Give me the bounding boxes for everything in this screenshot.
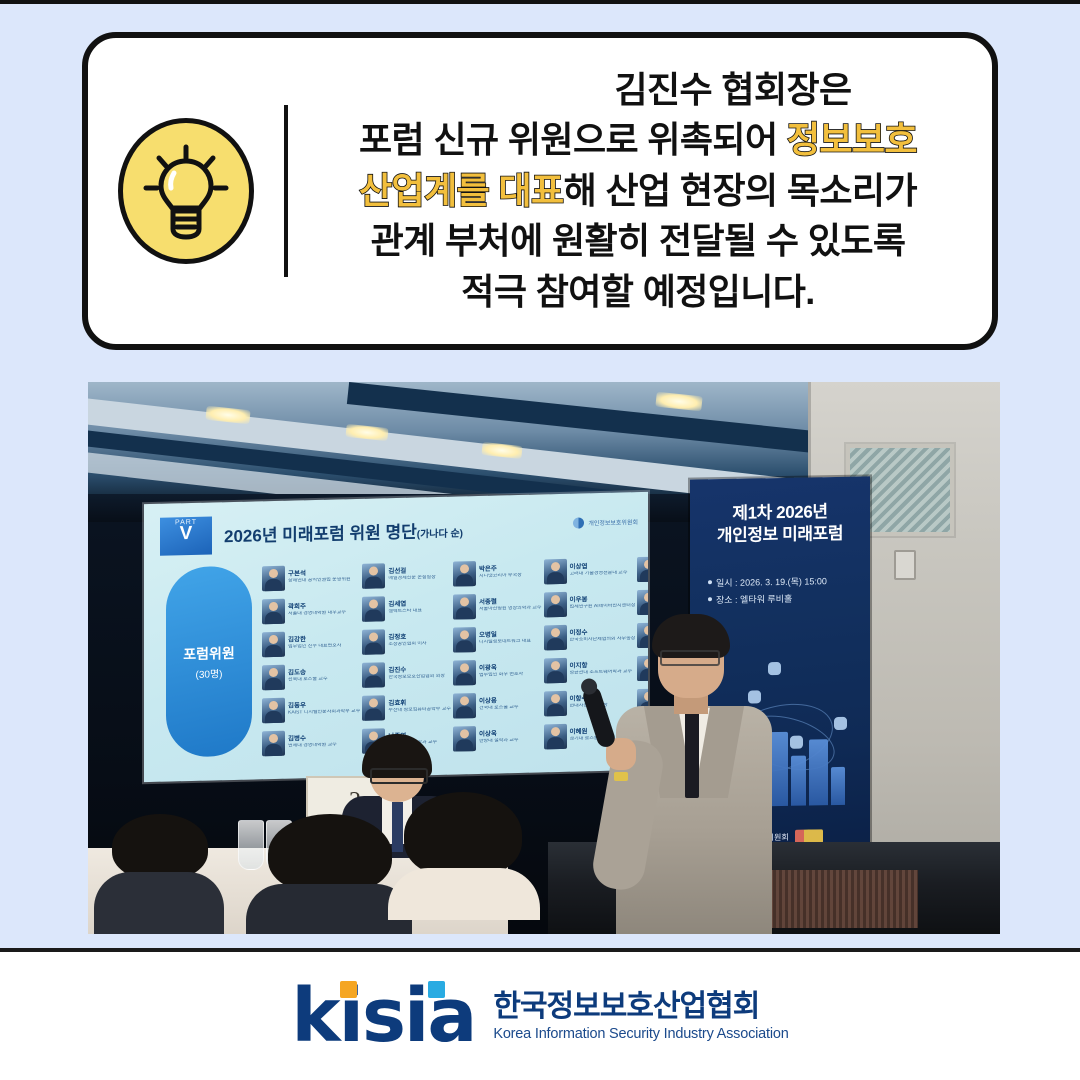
- member-portrait: [262, 599, 285, 625]
- slide-member-item: 김강한법무법인 진주 대표변호사: [262, 627, 360, 660]
- member-name-block: 김동우KAIST 디지털인문사회과학부 교수: [288, 702, 360, 716]
- banner-meta: 일시 : 2026. 3. 19.(목) 15:00 장소 : 엘타워 루비홀: [708, 573, 827, 609]
- ceiling-light: [655, 392, 702, 412]
- member-affiliation: 법무법인 화우 변호사: [479, 672, 523, 678]
- slide-member-item: 김효휘부산대 정보컴퓨터공학부 교수: [362, 691, 451, 724]
- member-portrait: [453, 594, 476, 620]
- quote-line-3: 산업계를 대표해 산업 현장의 목소리가: [310, 166, 966, 216]
- slide-member-item: 김진수한국정보보호산업협회 회장: [362, 658, 451, 691]
- poster-canvas: 김진수 협회장은 포럼 신규 위원으로 위촉되어 정보보호 산업계를 대표해 산…: [0, 0, 1080, 1080]
- member-portrait: [544, 658, 567, 684]
- member-affiliation: 전북대 로스쿨 교수: [288, 677, 328, 683]
- slide-member-item: 김동우KAIST 디지털인문사회과학부 교수: [262, 693, 360, 726]
- slide-member-item: 김세엽셀렉트스타 대표: [362, 592, 451, 625]
- slide-member-item: 곽희주서울대 경영대학원 대우교수: [262, 594, 360, 627]
- slide-member-item: 전은숙LG CNS 보안사업담당: [637, 585, 648, 618]
- slide-member-item: 이광욱법무법인 화우 변호사: [453, 655, 542, 688]
- member-portrait: [544, 691, 567, 717]
- member-affiliation: KAIST 디지털인문사회과학부 교수: [288, 709, 360, 716]
- member-name-block: 이우봉법제연구원 AI데이터만지센터장: [570, 597, 636, 611]
- member-affiliation: 건국대 로스쿨 교수: [479, 705, 519, 711]
- member-name-block: 이광욱법무법인 화우 변호사: [479, 665, 523, 678]
- slide-side-box: 포럼위원 (30명): [166, 566, 252, 758]
- banner-title: 제1차 2026년 개인정보 미래포럼: [690, 500, 870, 547]
- quote-line-5: 적극 참여할 예정입니다.: [310, 267, 966, 317]
- slide-member-item: 김정호소상공인협회 이사: [362, 625, 451, 658]
- member-affiliation: 지디넷코리아 부국장: [479, 573, 522, 579]
- slide-member-item: 이희정고려대 로스쿨 교수: [637, 552, 648, 585]
- member-affiliation: 한국정보보호산업협회 회장: [388, 674, 445, 681]
- org-name-block: 한국정보보호산업협회 Korea Information Security In…: [493, 990, 788, 1043]
- member-affiliation: 서울아산병원 영상의학과 교수: [479, 606, 542, 613]
- foreground-table-area: 2: [88, 734, 648, 934]
- member-affiliation: 서울대 경영대학원 대우교수: [288, 611, 346, 618]
- member-affiliation: 장애연대 공익인권법 운영위원: [288, 577, 351, 584]
- member-affiliation: 매일경제신문 논설실장: [388, 575, 435, 581]
- member-name-block: 김효휘부산대 정보컴퓨터공학부 교수: [388, 700, 451, 714]
- slide-title-main: 2026년 미래포럼 위원 명단: [224, 522, 417, 546]
- member-portrait: [362, 563, 385, 589]
- member-affiliation: 디지털정보네트워크 대표: [479, 639, 531, 646]
- speaker-tie: [685, 712, 699, 798]
- member-name-block: 이상용건국대 로스쿨 교수: [479, 698, 519, 711]
- network-node-icon: [790, 736, 803, 749]
- quote-text: 김진수 협회장은 포럼 신규 위원으로 위촉되어 정보보호 산업계를 대표해 산…: [310, 65, 992, 317]
- guest-head: [268, 814, 392, 894]
- quote-card: 김진수 협회장은 포럼 신규 위원으로 위촉되어 정보보호 산업계를 대표해 산…: [82, 32, 998, 350]
- quote-seg: 김진수 협회장은: [614, 69, 851, 110]
- slide-member-item: 김도승전북대 로스쿨 교수: [262, 660, 360, 693]
- member-portrait: [362, 695, 385, 721]
- member-affiliation: 고려대 기술경영전문대 교수: [570, 571, 628, 578]
- member-portrait: [637, 557, 648, 583]
- member-portrait: [453, 693, 476, 719]
- quote-seg-highlight: 정보보호: [787, 119, 917, 160]
- member-affiliation: 법무법인 진주 대표변호사: [288, 644, 341, 651]
- slide-gov-text: 개인정보보호위원회: [588, 517, 638, 527]
- quote-seg: 적극 참여할 예정입니다.: [461, 271, 814, 312]
- slide-member-item: 구본석장애연대 공익인권법 운영위원: [262, 561, 360, 594]
- bullet-icon: [708, 597, 712, 601]
- member-portrait: [637, 590, 648, 616]
- slide-part-badge: PART V: [160, 516, 212, 555]
- member-portrait: [544, 625, 567, 651]
- gov-emblem-icon: [573, 517, 584, 528]
- member-name-block: 김도승전북대 로스쿨 교수: [288, 670, 328, 683]
- slide-member-item: 서종렬서울아산병원 영상의학과 교수: [453, 589, 542, 622]
- slide-member-item: 김선걸매일경제신문 논설실장: [362, 559, 451, 592]
- attendee-glasses: [370, 768, 428, 784]
- quote-line-4: 관계 부처에 원활히 전달될 수 있도록: [310, 216, 966, 266]
- member-portrait: [362, 596, 385, 622]
- network-node-icon: [834, 717, 847, 730]
- kisia-dot-orange-icon: [340, 981, 357, 998]
- building: [809, 739, 828, 805]
- guest-shoulders: [388, 868, 540, 920]
- org-name-english: Korea Information Security Industry Asso…: [493, 1026, 788, 1042]
- member-portrait: [544, 592, 567, 618]
- slide-title-suffix: (가나다 순): [417, 528, 463, 540]
- kisia-wordmark-text: kisia: [291, 973, 475, 1059]
- member-name-block: 오병일디지털정보네트워크 대표: [479, 632, 531, 645]
- kisia-dot-cyan-icon: [428, 981, 445, 998]
- member-name-block: 김정호소상공인협회 이사: [388, 635, 426, 648]
- member-name-block: 박은주지디넷코리아 부국장: [479, 566, 522, 579]
- member-portrait: [262, 698, 285, 724]
- guest-back-center: [244, 814, 412, 934]
- lightbulb-icon: [118, 118, 254, 264]
- banner-meta-item: 일시 : 2026. 3. 19.(목) 15:00: [708, 573, 827, 592]
- member-portrait: [262, 566, 285, 592]
- slide-member-item: 이상엽고려대 기술경영전문대 교수: [544, 554, 636, 587]
- banner-meta-item: 장소 : 엘타워 루비홀: [708, 590, 827, 609]
- building: [791, 756, 806, 806]
- member-name-block: 구본석장애연대 공익인권법 운영위원: [288, 571, 351, 585]
- org-name-korean: 한국정보보호산업협회: [493, 990, 788, 1024]
- banner-venue: 장소 : 엘타워 루비홀: [716, 594, 792, 605]
- banner-datetime: 일시 : 2026. 3. 19.(목) 15:00: [716, 576, 827, 588]
- slide-title: 2026년 미래포럼 위원 명단(가나다 순): [224, 516, 463, 547]
- member-affiliation: 부산대 정보컴퓨터공학부 교수: [388, 707, 451, 714]
- member-name-block: 김진수한국정보보호산업협회 회장: [388, 667, 445, 680]
- member-portrait: [262, 665, 285, 691]
- quote-seg: 관계 부처에 원활히 전달될 수 있도록: [371, 220, 906, 261]
- member-name-block: 김세엽셀렉트스타 대표: [388, 602, 422, 615]
- member-portrait: [262, 632, 285, 658]
- member-portrait: [544, 559, 567, 585]
- slide-part-label: PART: [160, 518, 212, 526]
- member-name-block: 곽희주서울대 경영대학원 대우교수: [288, 604, 346, 617]
- banner-title-line2: 개인정보 미래포럼: [690, 522, 870, 547]
- member-name-block: 김강한법무법인 진주 대표변호사: [288, 637, 341, 650]
- member-name-block: 이상엽고려대 기술경영전문대 교수: [570, 564, 628, 577]
- guest-back-right: [388, 792, 540, 916]
- quote-seg: 해 산업 현장의 목소리가: [564, 170, 917, 211]
- slide-part-number: V: [160, 525, 212, 542]
- member-portrait: [453, 660, 476, 686]
- speaker-glasses: [660, 650, 720, 666]
- member-affiliation: 셀렉트스타 대표: [388, 609, 422, 615]
- footer-logo-bar: kisia 한국정보보호산업협회 Korea Information Secur…: [0, 952, 1080, 1080]
- member-portrait: [453, 627, 476, 653]
- guest-head: [404, 792, 522, 878]
- slide-side-box-count: (30명): [196, 665, 223, 681]
- member-name-block: 서종렬서울아산병원 영상의학과 교수: [479, 599, 542, 613]
- guest-back-left: [94, 814, 224, 934]
- member-portrait: [453, 561, 476, 587]
- slide-gov-logo: 개인정보보호위원회: [573, 516, 638, 529]
- guest-shoulders: [94, 872, 224, 934]
- member-name-block: 김선걸매일경제신문 논설실장: [388, 568, 435, 581]
- slide-side-box-title: 포럼위원: [183, 642, 235, 663]
- slide-member-item: 박은주지디넷코리아 부국장: [453, 556, 542, 589]
- kisia-wordmark: kisia: [291, 979, 475, 1053]
- banner-title-line1: 제1차 2026년: [690, 500, 870, 525]
- member-portrait: [362, 629, 385, 655]
- member-portrait: [362, 662, 385, 688]
- lightbulb-icon-wrapper: [88, 118, 284, 264]
- quote-seg-highlight: 산업계를 대표: [359, 170, 564, 211]
- bullet-icon: [708, 580, 712, 584]
- quote-seg: 포럼 신규 위원으로 위촉되어: [359, 119, 787, 160]
- slide-member-item: 오병일디지털정보네트워크 대표: [453, 622, 542, 655]
- quote-line-1: 김진수 협회장은: [310, 65, 966, 115]
- event-photo: PART V 2026년 미래포럼 위원 명단(가나다 순) 개인정보보호위원회…: [88, 382, 1000, 934]
- wall-switch: [894, 550, 916, 580]
- slide-member-item: 이상용건국대 로스쿨 교수: [453, 688, 542, 721]
- slide-member-item: 이우봉법제연구원 AI데이터만지센터장: [544, 587, 636, 620]
- quote-divider: [284, 105, 288, 277]
- building: [831, 767, 845, 805]
- member-affiliation: 법제연구원 AI데이터만지센터장: [570, 603, 636, 610]
- quote-line-2: 포럼 신규 위원으로 위촉되어 정보보호: [310, 115, 966, 165]
- guest-head: [112, 814, 208, 880]
- member-affiliation: 소상공인협회 이사: [388, 642, 426, 648]
